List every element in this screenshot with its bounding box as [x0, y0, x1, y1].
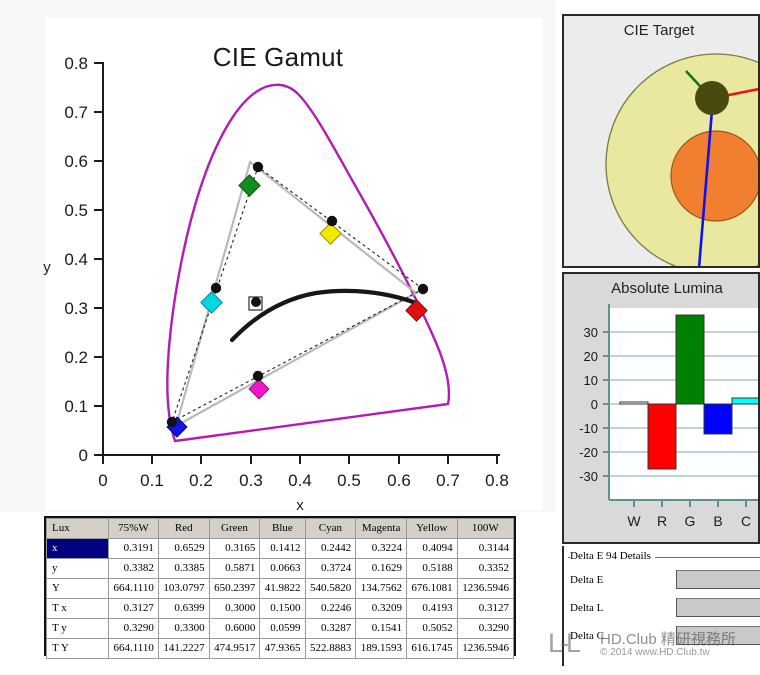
- y-tick-8: 0.8: [64, 54, 88, 73]
- measured-point-white[interactable]: [251, 297, 261, 307]
- measured-point-yellow[interactable]: [327, 216, 337, 226]
- bar-b[interactable]: [704, 404, 732, 434]
- delta-e-details-group: Delta E 94 Details Delta E Delta L Delta…: [562, 546, 760, 666]
- y-tick-4: 0.4: [64, 250, 88, 269]
- bar-c[interactable]: [732, 398, 758, 404]
- bar-ytick-m20: -20: [579, 445, 598, 460]
- column-header-red[interactable]: Red: [158, 519, 209, 539]
- measured-point-cyan[interactable]: [211, 283, 221, 293]
- row-header-tY[interactable]: T Y: [47, 639, 109, 659]
- cell[interactable]: 0.3300: [158, 619, 209, 639]
- gamut-plot[interactable]: 0 0.1 0.2 0.3 0.4 0.5 0.6 0.7 0.8 x: [0, 0, 556, 512]
- cell[interactable]: 540.5820: [305, 579, 356, 599]
- cell[interactable]: 103.0797: [158, 579, 209, 599]
- bar-cat-b: B: [713, 513, 722, 529]
- app-window: CIE Gamut 0 0.1 0.2 0.3: [0, 0, 760, 675]
- cell[interactable]: 0.5871: [209, 559, 260, 579]
- row-header-ty[interactable]: T y: [47, 619, 109, 639]
- absolute-luminance-title: Absolute Lumina: [574, 280, 760, 297]
- cell[interactable]: 0.1541: [356, 619, 407, 639]
- bar-ytick-0: 0: [591, 397, 598, 412]
- cell[interactable]: 664.1110: [109, 639, 159, 659]
- bar-ytick-30: 30: [584, 325, 598, 340]
- delta-c-row: Delta C: [568, 626, 760, 652]
- y-tick-2: 0.2: [64, 348, 88, 367]
- column-header-cyan[interactable]: Cyan: [305, 519, 356, 539]
- bar-g[interactable]: [676, 315, 704, 404]
- bar-r[interactable]: [648, 404, 676, 469]
- cell[interactable]: 0.3000: [209, 599, 260, 619]
- cell[interactable]: 1236.5946: [457, 579, 513, 599]
- measured-point-red[interactable]: [418, 284, 428, 294]
- cell[interactable]: 522.8883: [305, 639, 356, 659]
- lux-table-container[interactable]: Lux 75%W Red Green Blue Cyan Magenta Yel…: [44, 516, 516, 656]
- cell[interactable]: 0.3290: [109, 619, 159, 639]
- delta-l-row: Delta L: [568, 598, 760, 624]
- bar-ytick-10: 10: [584, 373, 598, 388]
- y-tick-0: 0: [79, 446, 88, 465]
- cell[interactable]: 0.0599: [260, 619, 305, 639]
- row-header-tx[interactable]: T x: [47, 599, 109, 619]
- x-tick-0: 0: [98, 471, 107, 490]
- cell[interactable]: 0.3191: [109, 539, 159, 559]
- row-header-Y[interactable]: Y: [47, 579, 109, 599]
- cell[interactable]: 676.1081: [406, 579, 457, 599]
- cell[interactable]: 189.1593: [356, 639, 407, 659]
- table-corner-label: Lux: [47, 519, 109, 539]
- column-header-blue[interactable]: Blue: [260, 519, 305, 539]
- measured-point-blue[interactable]: [167, 417, 177, 427]
- cell[interactable]: 0.3382: [109, 559, 159, 579]
- cell[interactable]: 0.3224: [356, 539, 407, 559]
- cie-target-graphic[interactable]: [564, 16, 758, 266]
- bar-ytick-m10: -10: [579, 421, 598, 436]
- delta-e-group-label: Delta E 94 Details: [570, 550, 655, 562]
- cell[interactable]: 664.1110: [109, 579, 159, 599]
- y-tick-5: 0.5: [64, 201, 88, 220]
- cell[interactable]: 0.3352: [457, 559, 513, 579]
- absolute-luminance-panel[interactable]: Absolute Lumina: [562, 272, 760, 544]
- cell[interactable]: 41.9822: [260, 579, 305, 599]
- cell[interactable]: 0.4094: [406, 539, 457, 559]
- delta-l-value[interactable]: [676, 598, 760, 617]
- column-header-75w[interactable]: 75%W: [109, 519, 159, 539]
- cell[interactable]: 0.6529: [158, 539, 209, 559]
- column-header-yellow[interactable]: Yellow: [406, 519, 457, 539]
- row-header-y[interactable]: y: [47, 559, 109, 579]
- table-row[interactable]: x 0.3191 0.6529 0.3165 0.1412 0.2442 0.3…: [47, 539, 514, 559]
- cell[interactable]: 0.1500: [260, 599, 305, 619]
- target-center-dot: [695, 81, 729, 115]
- y-tick-6: 0.6: [64, 152, 88, 171]
- bar-cat-w: W: [627, 513, 641, 529]
- row-header-x[interactable]: x: [47, 539, 109, 559]
- x-tick-1: 0.1: [140, 471, 164, 490]
- cell[interactable]: 0.1629: [356, 559, 407, 579]
- cie-target-panel[interactable]: CIE Target: [562, 14, 760, 268]
- delta-e-row: Delta E: [568, 570, 760, 596]
- table-header-row: Lux 75%W Red Green Blue Cyan Magenta Yel…: [47, 519, 514, 539]
- bar-cat-c: C: [741, 513, 751, 529]
- cell[interactable]: 0.1412: [260, 539, 305, 559]
- y-tick-7: 0.7: [64, 103, 88, 122]
- x-tick-2: 0.2: [189, 471, 213, 490]
- delta-e-value[interactable]: [676, 570, 760, 589]
- cell[interactable]: 0.3287: [305, 619, 356, 639]
- measured-point-green[interactable]: [253, 162, 263, 172]
- delta-c-label: Delta C: [570, 630, 604, 642]
- lux-table[interactable]: Lux 75%W Red Green Blue Cyan Magenta Yel…: [46, 518, 514, 659]
- column-header-100w[interactable]: 100W: [457, 519, 513, 539]
- cell[interactable]: 1236.5946: [457, 639, 513, 659]
- y-tick-1: 0.1: [64, 397, 88, 416]
- table-row[interactable]: T x 0.3127 0.6399 0.3000 0.1500 0.2246 0…: [47, 599, 514, 619]
- cell[interactable]: 47.9365: [260, 639, 305, 659]
- cell[interactable]: 0.0663: [260, 559, 305, 579]
- measured-point-magenta[interactable]: [253, 371, 263, 381]
- cell[interactable]: 0.3209: [356, 599, 407, 619]
- x-tick-7: 0.7: [436, 471, 460, 490]
- cell[interactable]: 134.7562: [356, 579, 407, 599]
- x-tick-5: 0.5: [337, 471, 361, 490]
- bar-ytick-20: 20: [584, 349, 598, 364]
- target-marker-magenta[interactable]: [249, 379, 269, 399]
- bar-w[interactable]: [620, 402, 648, 404]
- cell[interactable]: 616.1745: [406, 639, 457, 659]
- bar-ytick-m30: -30: [579, 469, 598, 484]
- table-row[interactable]: T y 0.3290 0.3300 0.6000 0.0599 0.3287 0…: [47, 619, 514, 639]
- column-header-green[interactable]: Green: [209, 519, 260, 539]
- x-tick-3: 0.3: [239, 471, 263, 490]
- right-column: CIE Target Absolute Lumina: [556, 0, 760, 675]
- x-tick-6: 0.6: [387, 471, 411, 490]
- delta-l-label: Delta L: [570, 602, 603, 614]
- cell[interactable]: 0.3290: [457, 619, 513, 639]
- target-marker-cyan[interactable]: [201, 292, 222, 313]
- absolute-luminance-chart[interactable]: 30 20 10 0 -10 -20 -30 W R G: [564, 300, 758, 544]
- cell[interactable]: 474.9517: [209, 639, 260, 659]
- cell[interactable]: 0.3127: [457, 599, 513, 619]
- cell[interactable]: 0.2246: [305, 599, 356, 619]
- y-tick-3: 0.3: [64, 299, 88, 318]
- x-tick-8: 0.8: [485, 471, 509, 490]
- cell[interactable]: 0.6000: [209, 619, 260, 639]
- cell[interactable]: 0.3165: [209, 539, 260, 559]
- x-axis-label: x: [296, 497, 304, 512]
- x-tick-4: 0.4: [288, 471, 312, 490]
- cell[interactable]: 650.2397: [209, 579, 260, 599]
- cie-gamut-panel: CIE Gamut 0 0.1 0.2 0.3: [0, 0, 556, 512]
- table-row[interactable]: T Y 664.1110 141.2227 474.9517 47.9365 5…: [47, 639, 514, 659]
- cell[interactable]: 0.3127: [109, 599, 159, 619]
- target-marker-yellow[interactable]: [320, 223, 341, 244]
- cell[interactable]: 0.4193: [406, 599, 457, 619]
- cell[interactable]: 0.5052: [406, 619, 457, 639]
- cell[interactable]: 0.3724: [305, 559, 356, 579]
- cell[interactable]: 0.3385: [158, 559, 209, 579]
- table-row[interactable]: Y 664.1110 103.0797 650.2397 41.9822 540…: [47, 579, 514, 599]
- cell[interactable]: 0.6399: [158, 599, 209, 619]
- delta-e-label: Delta E: [570, 574, 603, 586]
- table-row[interactable]: y 0.3382 0.3385 0.5871 0.0663 0.3724 0.1…: [47, 559, 514, 579]
- bottom-strip: [0, 668, 760, 675]
- y-axis-label: y: [43, 259, 51, 276]
- cell[interactable]: 0.5188: [406, 559, 457, 579]
- cell[interactable]: 0.2442: [305, 539, 356, 559]
- delta-c-value[interactable]: [676, 626, 760, 645]
- spectral-locus-curve: [167, 85, 449, 441]
- cell[interactable]: 141.2227: [158, 639, 209, 659]
- target-inner-circle: [671, 131, 758, 221]
- column-header-magenta[interactable]: Magenta: [356, 519, 407, 539]
- bar-cat-g: G: [685, 513, 696, 529]
- bar-cat-r: R: [657, 513, 667, 529]
- cell[interactable]: 0.3144: [457, 539, 513, 559]
